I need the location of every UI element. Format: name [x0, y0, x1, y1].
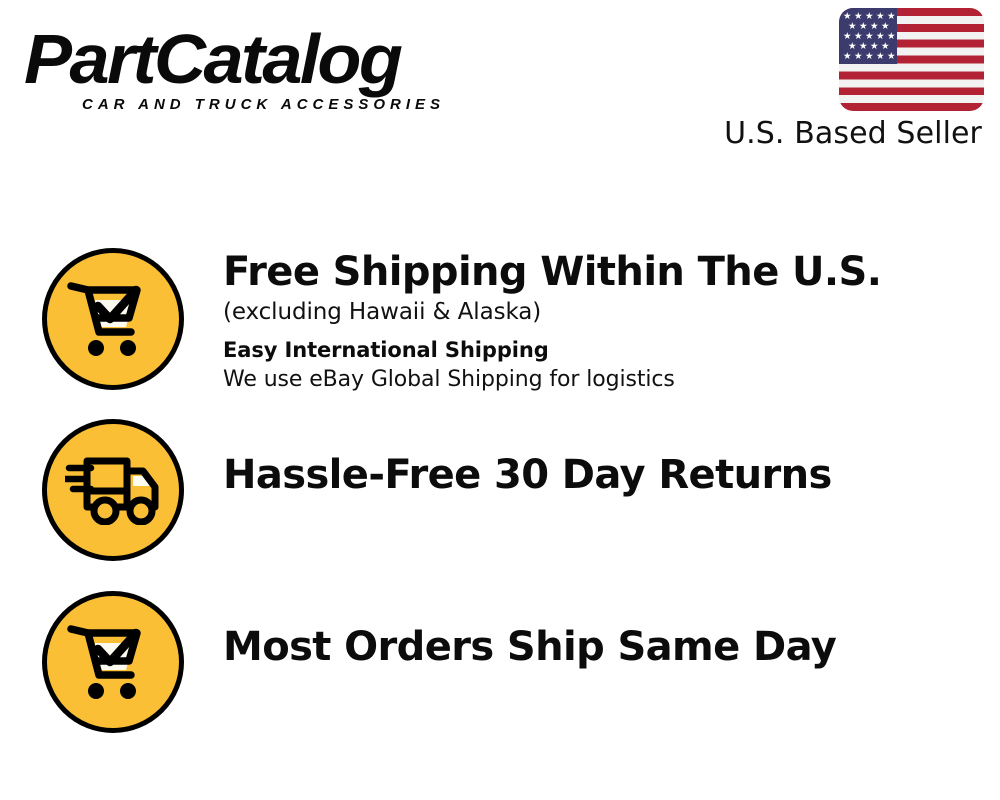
feature-subline-bold: Easy International Shipping: [223, 336, 983, 364]
brand-tagline: CAR AND TRUCK ACCESSORIES: [82, 96, 445, 113]
brand-logo[interactable]: PartCatalog CAR AND TRUCK ACCESSORIES: [24, 22, 494, 118]
feature-text-block: Free Shipping Within The U.S. (excluding…: [223, 248, 983, 396]
us-based-seller-badge: ★ ★ ★ ★ ★ ★ ★ ★ ★ ★ ★ ★ ★ ★ ★ ★ ★ ★ ★ ★: [694, 8, 994, 151]
us-flag-icon: ★ ★ ★ ★ ★ ★ ★ ★ ★ ★ ★ ★ ★ ★ ★ ★ ★ ★ ★ ★: [839, 8, 984, 111]
seller-label: U.S. Based Seller: [694, 117, 994, 151]
feature-subline: (excluding Hawaii & Alaska): [223, 296, 983, 329]
feature-headline: Free Shipping Within The U.S.: [223, 248, 983, 296]
feature-text-block: Most Orders Ship Same Day: [223, 623, 983, 671]
feature-headline: Hassle-Free 30 Day Returns: [223, 451, 983, 499]
shopping-cart-check-icon: [42, 591, 184, 733]
feature-text-block: Hassle-Free 30 Day Returns: [223, 451, 983, 499]
brand-wordmark: PartCatalog: [24, 22, 508, 96]
feature-headline: Most Orders Ship Same Day: [223, 623, 983, 671]
page-header: PartCatalog CAR AND TRUCK ACCESSORIES ★ …: [0, 0, 1000, 175]
delivery-truck-icon: [42, 419, 184, 561]
feature-subline-note: We use eBay Global Shipping for logistic…: [223, 364, 983, 396]
shopping-cart-check-icon: [42, 248, 184, 390]
flag-canton: ★ ★ ★ ★ ★ ★ ★ ★ ★ ★ ★ ★ ★ ★ ★ ★ ★ ★ ★ ★: [839, 8, 897, 64]
